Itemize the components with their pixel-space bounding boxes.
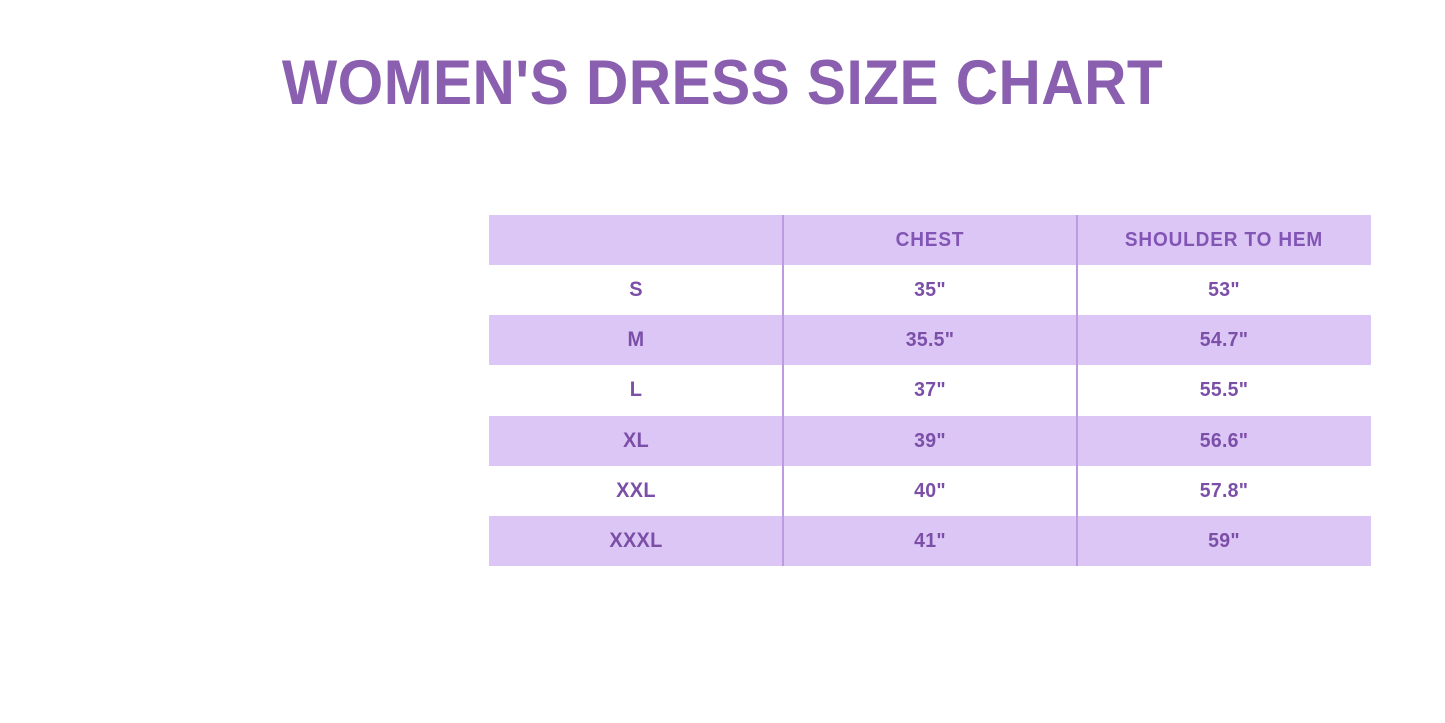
column-header-chest: CHEST	[790, 215, 1069, 265]
cell-shoulder-to-hem: 56.6"	[1084, 416, 1363, 466]
cell-chest: 39"	[790, 416, 1069, 466]
cell-chest: 37"	[790, 365, 1069, 415]
cell-shoulder-to-hem: 54.7"	[1084, 315, 1363, 365]
table-row: XL 39" 56.6"	[489, 416, 1371, 466]
cell-chest: 35.5"	[790, 315, 1069, 365]
cell-chest: 41"	[790, 516, 1069, 566]
cell-chest: 40"	[790, 466, 1069, 516]
cell-size: XXXL	[496, 516, 775, 566]
cell-size: L	[496, 365, 775, 415]
table-row: XXXL 41" 59"	[489, 516, 1371, 566]
column-header-size	[496, 215, 775, 265]
table-row: L 37" 55.5"	[489, 365, 1371, 415]
cell-size: XL	[496, 416, 775, 466]
column-header-shoulder-to-hem: SHOULDER TO HEM	[1084, 215, 1363, 265]
cell-size: XXL	[496, 466, 775, 516]
cell-size: M	[496, 315, 775, 365]
cell-shoulder-to-hem: 57.8"	[1084, 466, 1363, 516]
cell-shoulder-to-hem: 55.5"	[1084, 365, 1363, 415]
table-row: S 35" 53"	[489, 265, 1371, 315]
page-title: WOMEN'S DRESS SIZE CHART	[51, 52, 1395, 115]
table-grid: CHEST SHOULDER TO HEM S 35" 53" M 35.5" …	[489, 215, 1371, 566]
table-row: XXL 40" 57.8"	[489, 466, 1371, 516]
table-row: M 35.5" 54.7"	[489, 315, 1371, 365]
cell-shoulder-to-hem: 53"	[1084, 265, 1363, 315]
cell-chest: 35"	[790, 265, 1069, 315]
cell-shoulder-to-hem: 59"	[1084, 516, 1363, 566]
table-header-row: CHEST SHOULDER TO HEM	[489, 215, 1371, 265]
cell-size: S	[496, 265, 775, 315]
size-chart-table: CHEST SHOULDER TO HEM S 35" 53" M 35.5" …	[489, 215, 1371, 566]
